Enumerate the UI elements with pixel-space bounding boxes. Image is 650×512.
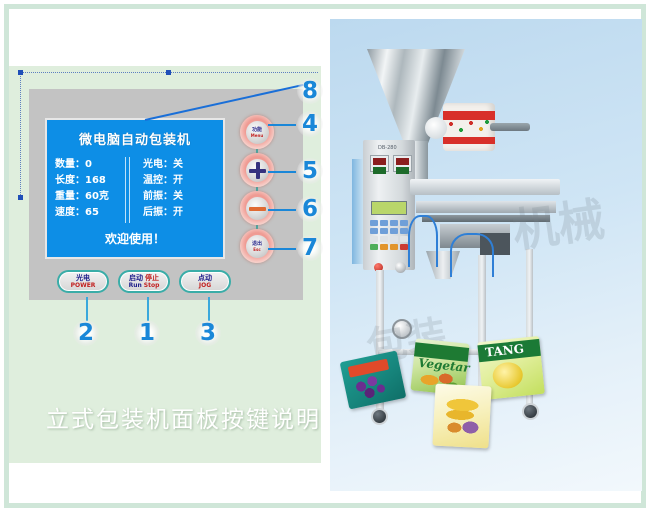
keypad-key[interactable] (400, 228, 408, 234)
film-roll-hub (425, 117, 447, 139)
leader-line-3 (208, 297, 210, 321)
decrease-button-face (246, 197, 269, 220)
lcd-row-quantity: 数量：0 (55, 157, 127, 173)
increase-button-face (246, 159, 269, 182)
keypad-key[interactable] (370, 228, 378, 234)
callout-2: 2 (73, 320, 99, 346)
run-label-en: Run (129, 282, 142, 289)
keypad-key-function[interactable] (390, 244, 398, 250)
leader-line-1 (147, 297, 149, 321)
selection-marquee-left (20, 72, 21, 197)
lcd-divider (125, 157, 130, 223)
lcd-row-tempctrl: 温控：开 (143, 173, 215, 189)
lcd-value-frontvib: 关 (173, 191, 183, 202)
lcd-label-speed: 速度： (55, 207, 85, 218)
keypad-key[interactable] (390, 220, 398, 226)
lcd-label-quantity: 数量： (55, 159, 85, 170)
keypad-key-stop[interactable] (400, 244, 408, 250)
photoeye-label-en: POWER (71, 282, 96, 289)
temp-controller-1 (370, 155, 389, 172)
lcd-label-length: 长度： (55, 175, 85, 186)
run-stop-button[interactable]: 启动 停止 Run Stop (118, 270, 170, 293)
jog-button[interactable]: 点动 JOG (179, 270, 231, 293)
lcd-title: 微电脑自动包装机 (47, 129, 223, 148)
leader-line-5 (268, 171, 296, 173)
keypad-key-function[interactable] (380, 244, 388, 250)
film-roll-band-bottom (443, 137, 495, 144)
lcd-body: 数量：0 长度：168 重量：60克 速度：65 光电：关 (47, 157, 223, 221)
air-hose-1 (408, 215, 438, 267)
caster-wheel-1 (371, 408, 388, 425)
lcd-value-speed: 65 (85, 207, 99, 218)
sealing-deck-lower (416, 201, 556, 213)
run-stop-en-row: Run Stop (129, 282, 160, 289)
lcd-label-tempctrl: 温控： (143, 175, 173, 186)
keypad-key[interactable] (400, 220, 408, 226)
escape-label-en: Esc (253, 247, 260, 252)
lcd-value-length: 168 (85, 175, 106, 186)
callout-3: 3 (195, 320, 221, 346)
temp-readout-2 (396, 158, 409, 165)
callout-6: 6 (297, 196, 323, 222)
run-stop-cn-row: 启动 停止 (129, 274, 159, 282)
stop-label-cn: 停止 (145, 274, 159, 282)
callout-1: 1 (134, 320, 160, 346)
lcd-label-rearvib: 后振： (143, 207, 173, 218)
keypad-key[interactable] (400, 236, 408, 242)
lcd-row-rearvib: 后振：开 (143, 205, 215, 221)
lcd-value-tempctrl: 开 (173, 175, 183, 186)
lcd-value-rearvib: 开 (173, 207, 183, 218)
grape-packet-banner (348, 359, 389, 378)
cabinet-lcd-screen (371, 201, 407, 215)
lcd-value-photoeye: 关 (173, 159, 183, 170)
escape-button[interactable]: 退出 Esc (240, 229, 274, 263)
lcd-value-weight: 60克 (85, 191, 109, 202)
lcd-right-column: 光电：关 温控：开 前振：关 后振：开 (127, 157, 215, 221)
keypad-key[interactable] (370, 236, 378, 242)
function-menu-button-face: 功能 Menu (246, 121, 269, 144)
keypad-key-enter[interactable] (370, 244, 378, 250)
temp-readout-1 (373, 158, 386, 165)
selection-handle-tm[interactable] (166, 70, 171, 75)
lcd-value-quantity: 0 (85, 159, 92, 170)
function-menu-label-en: Menu (251, 133, 263, 138)
lcd-label-weight: 重量： (55, 191, 85, 202)
sealing-bar (422, 215, 550, 222)
lcd-label-photoeye: 光电： (143, 159, 173, 170)
film-roll-shaft (490, 123, 530, 131)
leader-line-7 (268, 248, 296, 250)
lcd-row-length: 长度：168 (55, 173, 127, 189)
control-panel: 微电脑自动包装机 数量：0 长度：168 重量：60克 速度：65 (29, 89, 303, 300)
keypad-key[interactable] (380, 220, 388, 226)
keypad-key[interactable] (380, 236, 388, 242)
photoeye-button[interactable]: 光电 POWER (57, 270, 109, 293)
figure-caption: 立式包装机面板按键说明 (46, 400, 321, 434)
callout-5: 5 (297, 158, 323, 184)
stop-label-en: Stop (144, 282, 160, 289)
machine-photo: DB-280 (330, 19, 642, 491)
callout-4: 4 (297, 111, 323, 137)
speed-knob[interactable] (395, 262, 406, 273)
air-hose-2 (450, 233, 494, 277)
decrease-button[interactable] (240, 191, 274, 225)
jog-label-en: JOG (199, 282, 211, 289)
function-menu-button[interactable]: 功能 Menu (240, 115, 274, 149)
cabinet-keypad (370, 220, 408, 250)
temperature-controllers (370, 155, 412, 172)
lcd-row-frontvib: 前振：关 (143, 189, 215, 205)
keypad-key[interactable] (390, 228, 398, 234)
keypad-key[interactable] (370, 220, 378, 226)
escape-button-face: 退出 Esc (246, 235, 269, 258)
increase-button[interactable] (240, 153, 274, 187)
selection-handle-tl[interactable] (18, 70, 23, 75)
temp-setpoint-1 (373, 167, 386, 174)
leader-line-2 (86, 297, 88, 321)
keypad-key[interactable] (380, 228, 388, 234)
leader-line-6 (268, 209, 296, 211)
lcd-label-frontvib: 前振： (143, 191, 173, 202)
temp-setpoint-2 (396, 167, 409, 174)
lcd-left-column: 数量：0 长度：168 重量：60克 速度：65 (55, 157, 127, 221)
run-label-cn: 启动 (129, 274, 143, 282)
film-roll-print (447, 120, 491, 136)
keypad-key[interactable] (390, 236, 398, 242)
callout-7: 7 (297, 235, 323, 261)
callout-8: 8 (297, 78, 323, 104)
air-regulator (392, 319, 412, 339)
screenshot-root: 微电脑自动包装机 数量：0 长度：168 重量：60克 速度：65 (0, 0, 650, 512)
film-roll-band-top (443, 111, 495, 120)
leader-line-4 (268, 124, 296, 126)
lcd-row-speed: 速度：65 (55, 205, 127, 221)
minus-icon (249, 200, 266, 217)
machine-model-label: DB-280 (378, 145, 397, 151)
plus-icon (249, 162, 266, 179)
banana-packet (432, 384, 491, 449)
tang-packet-lemon-icon (491, 361, 524, 390)
caster-wheel-3 (522, 403, 539, 420)
lcd-welcome-message: 欢迎使用！ (47, 230, 223, 247)
lcd-screen: 微电脑自动包装机 数量：0 长度：168 重量：60克 速度：65 (45, 118, 225, 259)
lcd-row-weight: 重量：60克 (55, 189, 127, 205)
sealing-deck (410, 179, 560, 195)
jog-label-cn: 点动 (198, 274, 212, 282)
photoeye-label-cn: 光电 (76, 274, 90, 282)
temp-controller-2 (393, 155, 412, 172)
selection-handle-ml[interactable] (18, 195, 23, 200)
lcd-row-photoeye: 光电：关 (143, 157, 215, 173)
grape-packet (340, 350, 407, 409)
